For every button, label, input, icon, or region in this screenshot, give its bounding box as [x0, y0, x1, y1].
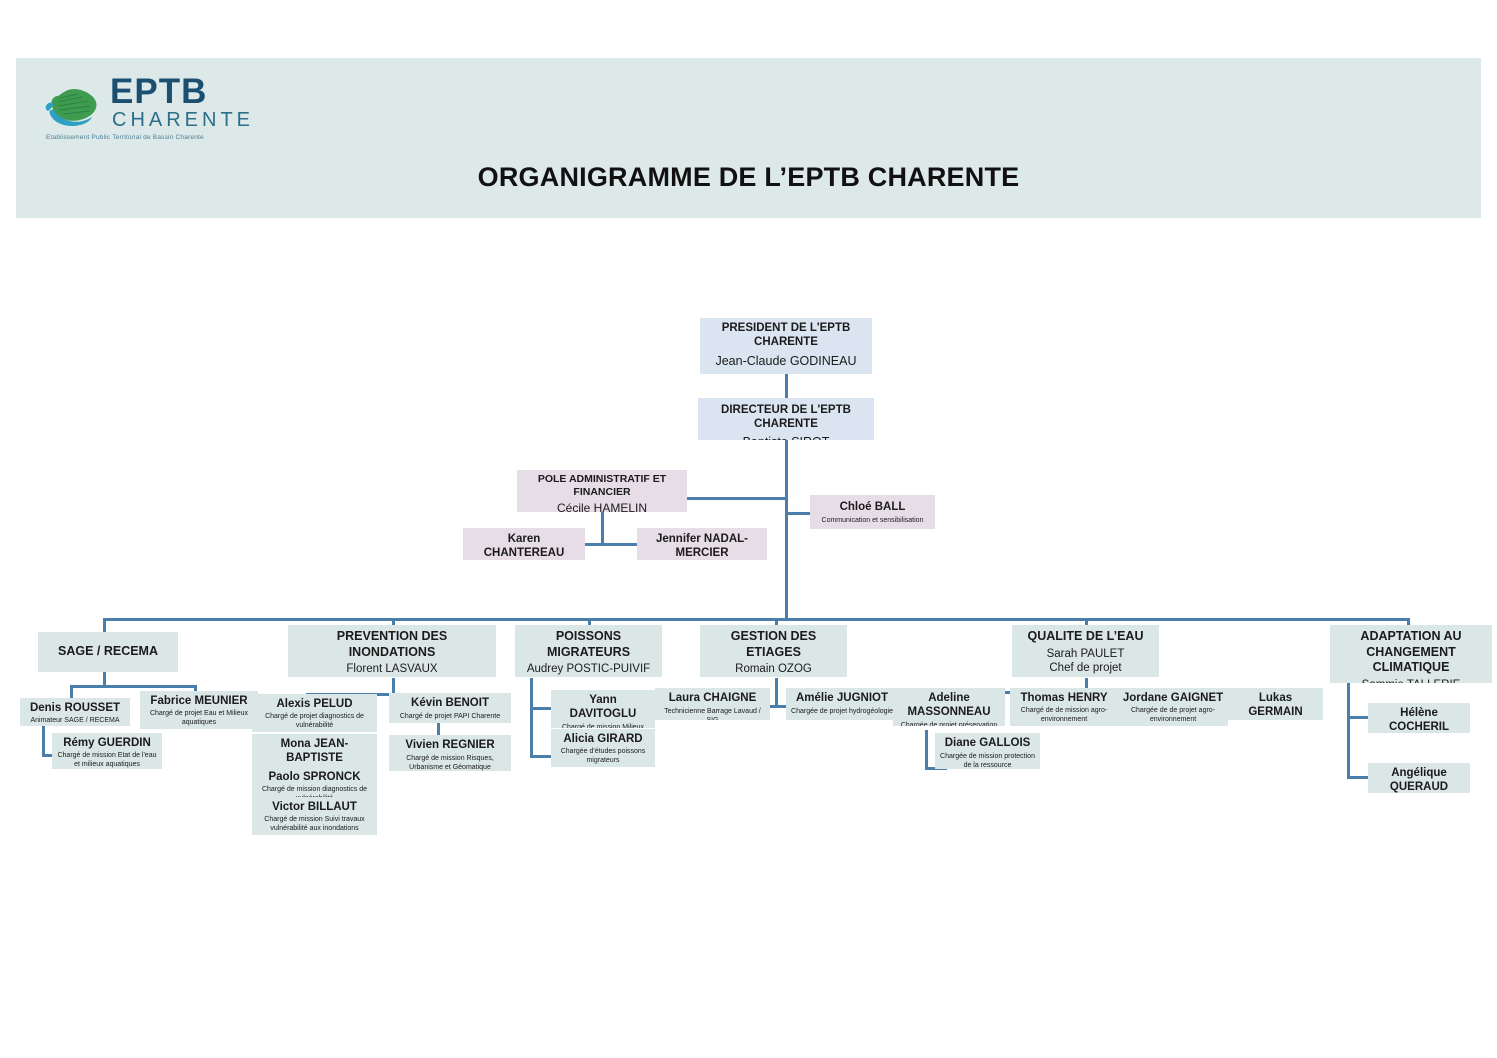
adeline-massonneau-name: Adeline MASSONNEAU [897, 691, 1001, 720]
dept-adaptation-title: ADAPTATION AU CHANGEMENT CLIMATIQUE [1334, 629, 1488, 676]
dept-poissons-lead: Audrey POSTIC-PUIVIF [519, 662, 658, 676]
box-amelie-jugniot[interactable]: Amélie JUGNIOT Chargée de projet hydrogé… [786, 688, 898, 720]
box-director[interactable]: DIRECTEUR DE L'EPTB CHARENTE Baptiste SI… [698, 398, 874, 440]
dept-adaptation-lead: Sammie TALLERIE [1334, 678, 1488, 683]
victor-billaut-name: Victor BILLAUT [256, 800, 373, 814]
alexis-pelud-role: Chargé de projet diagnostics de vulnérab… [256, 713, 373, 731]
box-victor-billaut[interactable]: Victor BILLAUT Chargé de mission Suivi t… [252, 797, 377, 835]
dept-header-poissons[interactable]: POISSONS MIGRATEURS Audrey POSTIC-PUIVIF… [515, 625, 662, 677]
laura-chaigne-role: Technicienne Barrage Lavaud / SIG [659, 708, 766, 720]
paolo-spronck-name: Paolo SPRONCK [256, 770, 373, 784]
connector-sage-bus [70, 685, 197, 688]
connector-president-director [785, 374, 788, 400]
box-laura-chaigne[interactable]: Laura CHAIGNE Technicienne Barrage Lavau… [655, 688, 770, 720]
dept-qualite-lead: Sarah PAULET [1016, 647, 1155, 661]
denis-rousset-role: Animateur SAGE / RECEMA [24, 717, 126, 726]
connector-poissons-c2 [530, 755, 552, 758]
diane-gallois-name: Diane GALLOIS [939, 736, 1036, 750]
jordane-gaignet-name: Jordane GAIGNET [1122, 691, 1224, 705]
dept-qualite-title: QUALITE DE L’EAU [1016, 629, 1155, 645]
box-vivien-regnier[interactable]: Vivien REGNIER Chargé de mission Risques… [389, 735, 511, 771]
communication-role: Communication et sensibilisation [814, 517, 931, 526]
connector-drop-sage [103, 618, 106, 632]
connector-adapt-stem [1347, 683, 1350, 779]
page-title: ORGANIGRAMME DE L’EPTB CHARENTE [0, 162, 1497, 193]
connector-etiages-stem [775, 678, 778, 708]
director-title: DIRECTEUR DE L'EPTB CHARENTE [702, 403, 870, 432]
box-alexis-pelud[interactable]: Alexis PELUD Chargé de projet diagnostic… [252, 694, 377, 732]
jordane-gaignet-role: Chargée de de projet agro-environnement [1122, 707, 1224, 725]
logo-brand-text: EPTB [110, 74, 207, 109]
box-pole-administratif[interactable]: POLE ADMINISTRATIF ET FINANCIER Cécile H… [517, 470, 687, 512]
connector-trunk-pole [686, 497, 787, 500]
box-fabrice-meunier[interactable]: Fabrice MEUNIER Chargé de projet Eau et … [140, 691, 258, 729]
dept-inondations-title: PREVENTION DES INONDATIONS [292, 629, 492, 660]
connector-sage-c1 [70, 685, 73, 698]
comptabilite-name: Jennifer NADAL-MERCIER [641, 532, 763, 560]
dept-header-etiages[interactable]: GESTION DES ETIAGES Romain OZOG Chef de … [700, 625, 847, 677]
dept-header-qualite[interactable]: QUALITE DE L’EAU Sarah PAULET Chef de pr… [1012, 625, 1159, 677]
connector-adapt-c2 [1347, 776, 1369, 779]
fabrice-meunier-name: Fabrice MEUNIER [144, 694, 254, 708]
assistante-name: Karen CHANTEREAU [467, 532, 581, 560]
helene-cocheril-name: Hélène COCHERIL [1372, 706, 1466, 733]
dept-poissons-title: POISSONS MIGRATEURS [519, 629, 658, 660]
map-leaf-logo-icon [44, 84, 102, 128]
thomas-henry-role: Chargé de de mission agro-environnement [1014, 707, 1114, 725]
box-adeline-massonneau[interactable]: Adeline MASSONNEAU Chargée de projet pré… [893, 688, 1005, 726]
alicia-girard-role: Chargée d'études poissons migrateurs [555, 748, 651, 766]
box-thomas-henry[interactable]: Thomas HENRY Chargé de de mission agro-e… [1010, 688, 1118, 726]
dept-qualite-lead-role: Chef de projet [1016, 661, 1155, 675]
organigramme-page: EPTB CHARENTE Etablissement Public Terri… [0, 0, 1497, 1058]
connector-poissons-c1 [530, 707, 552, 710]
vivien-regnier-role: Chargé de mission Risques, Urbanisme et … [393, 755, 507, 771]
pole-title: POLE ADMINISTRATIF ET FINANCIER [521, 473, 683, 499]
connector-pole-stem [601, 510, 604, 545]
director-name: Baptiste SIROT [702, 435, 870, 440]
box-denis-rousset[interactable]: Denis ROUSSET Animateur SAGE / RECEMA [20, 698, 130, 726]
dept-sage-title: SAGE / RECEMA [58, 644, 158, 660]
communication-name: Chloé BALL [814, 500, 931, 514]
denis-rousset-name: Denis ROUSSET [24, 701, 126, 715]
victor-billaut-role: Chargé de mission Suivi travaux vulnérab… [256, 816, 373, 834]
vivien-regnier-name: Vivien REGNIER [393, 738, 507, 752]
logo-sub-text: CHARENTE [112, 110, 254, 130]
logo-tagline: Etablissement Public Territorial de Bass… [46, 134, 204, 141]
amelie-jugniot-name: Amélie JUGNIOT [790, 691, 894, 705]
box-lukas-germain[interactable]: Lukas GERMAIN Chargé de mission Filières [1228, 688, 1323, 720]
box-jordane-gaignet[interactable]: Jordane GAIGNET Chargée de de projet agr… [1118, 688, 1228, 726]
box-administration-comptabilite[interactable]: Jennifer NADAL-MERCIER Administration / … [637, 528, 767, 560]
box-communication[interactable]: Chloé BALL Communication et sensibilisat… [810, 495, 935, 529]
president-name: Jean-Claude GODINEAU [704, 354, 868, 370]
adeline-massonneau-role: Chargée de projet préservation de la res… [897, 722, 1001, 726]
box-remy-guerdin[interactable]: Rémy GUERDIN Chargé de mission Etat de l… [52, 733, 162, 769]
connector-massonneau-stem [925, 730, 928, 770]
connector-rousset-stem [42, 724, 45, 757]
box-alicia-girard[interactable]: Alicia GIRARD Chargée d'études poissons … [551, 729, 655, 767]
dept-header-adaptation[interactable]: ADAPTATION AU CHANGEMENT CLIMATIQUE Samm… [1330, 625, 1492, 683]
box-yann-davitoglu[interactable]: Yann DAVITOGLU Chargé de mission Milieux… [551, 690, 655, 728]
dept-etiages-lead: Romain OZOG [704, 662, 843, 676]
mona-jean-baptiste-name: Mona JEAN-BAPTISTE [256, 737, 373, 766]
box-helene-cocheril[interactable]: Hélène COCHERIL Chargée de projet PTGE [1368, 703, 1470, 733]
alicia-girard-name: Alicia GIRARD [555, 732, 651, 746]
dept-header-inondations[interactable]: PREVENTION DES INONDATIONS Florent LASVA… [288, 625, 496, 677]
connector-poissons-stem [530, 678, 533, 758]
connector-adapt-c1 [1347, 716, 1369, 719]
yann-davitoglu-name: Yann DAVITOGLU [555, 693, 651, 722]
president-title: PRESIDENT DE L'EPTB CHARENTE [704, 321, 868, 350]
thomas-henry-name: Thomas HENRY [1014, 691, 1114, 705]
dept-inondations-lead: Florent LASVAUX [292, 662, 492, 676]
connector-director-trunk [785, 440, 788, 620]
box-assistante-administrative[interactable]: Karen CHANTEREAU Assistante administrati… [463, 528, 585, 560]
box-angelique-queraud[interactable]: Angélique QUERAUD Chargée de projet PAGQ [1368, 763, 1470, 793]
dept-etiages-title: GESTION DES ETIAGES [704, 629, 843, 660]
pole-name: Cécile HAMELIN [521, 501, 683, 512]
box-kevin-benoit[interactable]: Kévin BENOIT Chargé de projet PAPI Chare… [389, 693, 511, 723]
amelie-jugniot-role: Chargée de projet hydrogéologie [790, 708, 894, 717]
dept-header-sage[interactable]: SAGE / RECEMA [38, 632, 178, 672]
eptb-logo: EPTB CHARENTE Etablissement Public Terri… [44, 72, 234, 144]
yann-davitoglu-role: Chargé de mission Milieux aquatiques [555, 724, 651, 728]
box-president[interactable]: PRESIDENT DE L'EPTB CHARENTE Jean-Claude… [700, 318, 872, 374]
lukas-germain-name: Lukas GERMAIN [1232, 691, 1319, 720]
box-diane-gallois[interactable]: Diane GALLOIS Chargée de mission protect… [935, 733, 1040, 769]
diane-gallois-role: Chargée de mission protection de la ress… [939, 753, 1036, 769]
kevin-benoit-role: Chargé de projet PAPI Charente [393, 713, 507, 722]
laura-chaigne-name: Laura CHAIGNE [659, 691, 766, 705]
remy-guerdin-name: Rémy GUERDIN [56, 736, 158, 750]
angelique-queraud-name: Angélique QUERAUD [1372, 766, 1466, 793]
alexis-pelud-name: Alexis PELUD [256, 697, 373, 711]
connector-department-bus [103, 618, 1408, 621]
header-band [16, 58, 1481, 218]
remy-guerdin-role: Chargé de mission Etat de l'eau et milie… [56, 752, 158, 769]
fabrice-meunier-role: Chargé de projet Eau et Milieux aquatiqu… [144, 710, 254, 728]
kevin-benoit-name: Kévin BENOIT [393, 696, 507, 710]
